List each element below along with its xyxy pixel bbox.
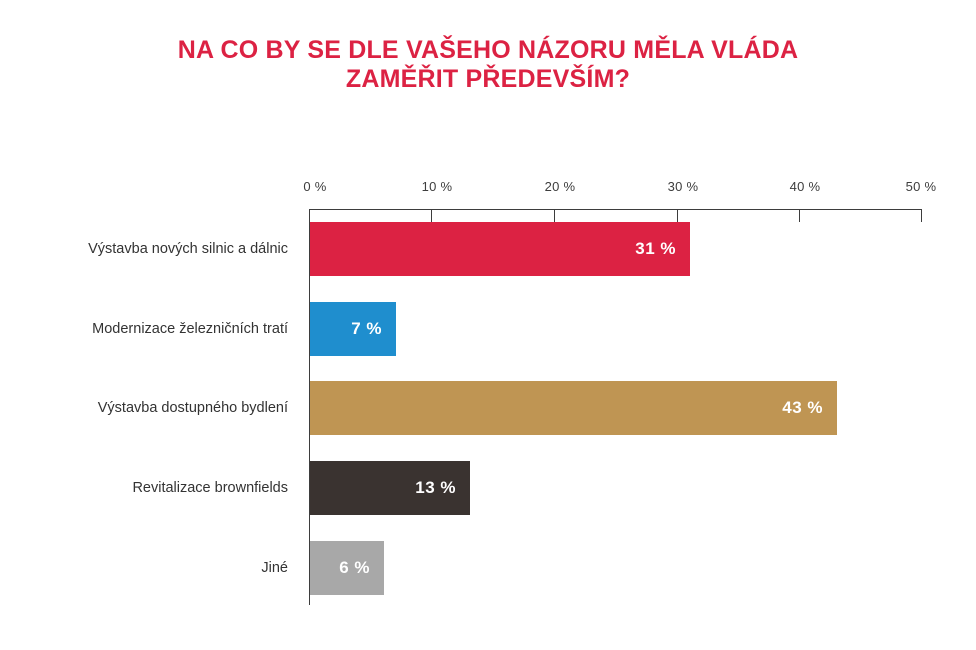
bar-row: Výstavba dostupného bydlení 43 % [0,381,976,435]
bar-value-label: 31 % [635,239,690,259]
category-label: Výstavba dostupného bydlení [0,381,288,435]
bar-vystavba-novych-silnic-a-dalnic[interactable]: 31 % [310,222,690,276]
x-axis-tick-30 [677,209,678,222]
category-label: Jiné [0,541,288,595]
x-axis-start-cap [309,209,310,222]
bar-value-label: 43 % [782,398,837,418]
x-axis-tick-20 [554,209,555,222]
x-axis-tick-label-10: 10 % [422,179,453,194]
category-label: Modernizace železničních tratí [0,302,288,356]
bar-value-label: 7 % [351,319,396,339]
bar-row: Modernizace železničních tratí 7 % [0,302,976,356]
x-axis-line [309,209,922,210]
bar-revitalizace-brownfields[interactable]: 13 % [310,461,470,515]
x-axis-tick-40 [799,209,800,222]
bar-row: Jiné 6 % [0,541,976,595]
chart-page: NA CO BY SE DLE VAŠEHO NÁZORU MĚLA VLÁDA… [0,0,976,650]
x-axis-tick-label-30: 30 % [668,179,699,194]
bar-row: Revitalizace brownfields 13 % [0,461,976,515]
bar-row: Výstavba nových silnic a dálnic 31 % [0,222,976,276]
x-axis-tick-label-40: 40 % [790,179,821,194]
category-label: Výstavba nových silnic a dálnic [0,222,288,276]
bar-vystavba-dostupneho-bydleni[interactable]: 43 % [310,381,837,435]
x-axis-tick-10 [431,209,432,222]
bar-modernizace-zeleznicnich-trati[interactable]: 7 % [310,302,396,356]
bar-value-label: 13 % [415,478,470,498]
x-axis-tick-label-0: 0 % [303,179,326,194]
x-axis-end-cap [921,209,922,222]
bar-value-label: 6 % [339,558,384,578]
x-axis-tick-label-20: 20 % [545,179,576,194]
x-axis-tick-label-50: 50 % [906,179,937,194]
category-label: Revitalizace brownfields [0,461,288,515]
bar-jine[interactable]: 6 % [310,541,384,595]
bar-chart-plot: 0 % 10 % 20 % 30 % 40 % 50 % Výstavba no… [0,0,976,650]
